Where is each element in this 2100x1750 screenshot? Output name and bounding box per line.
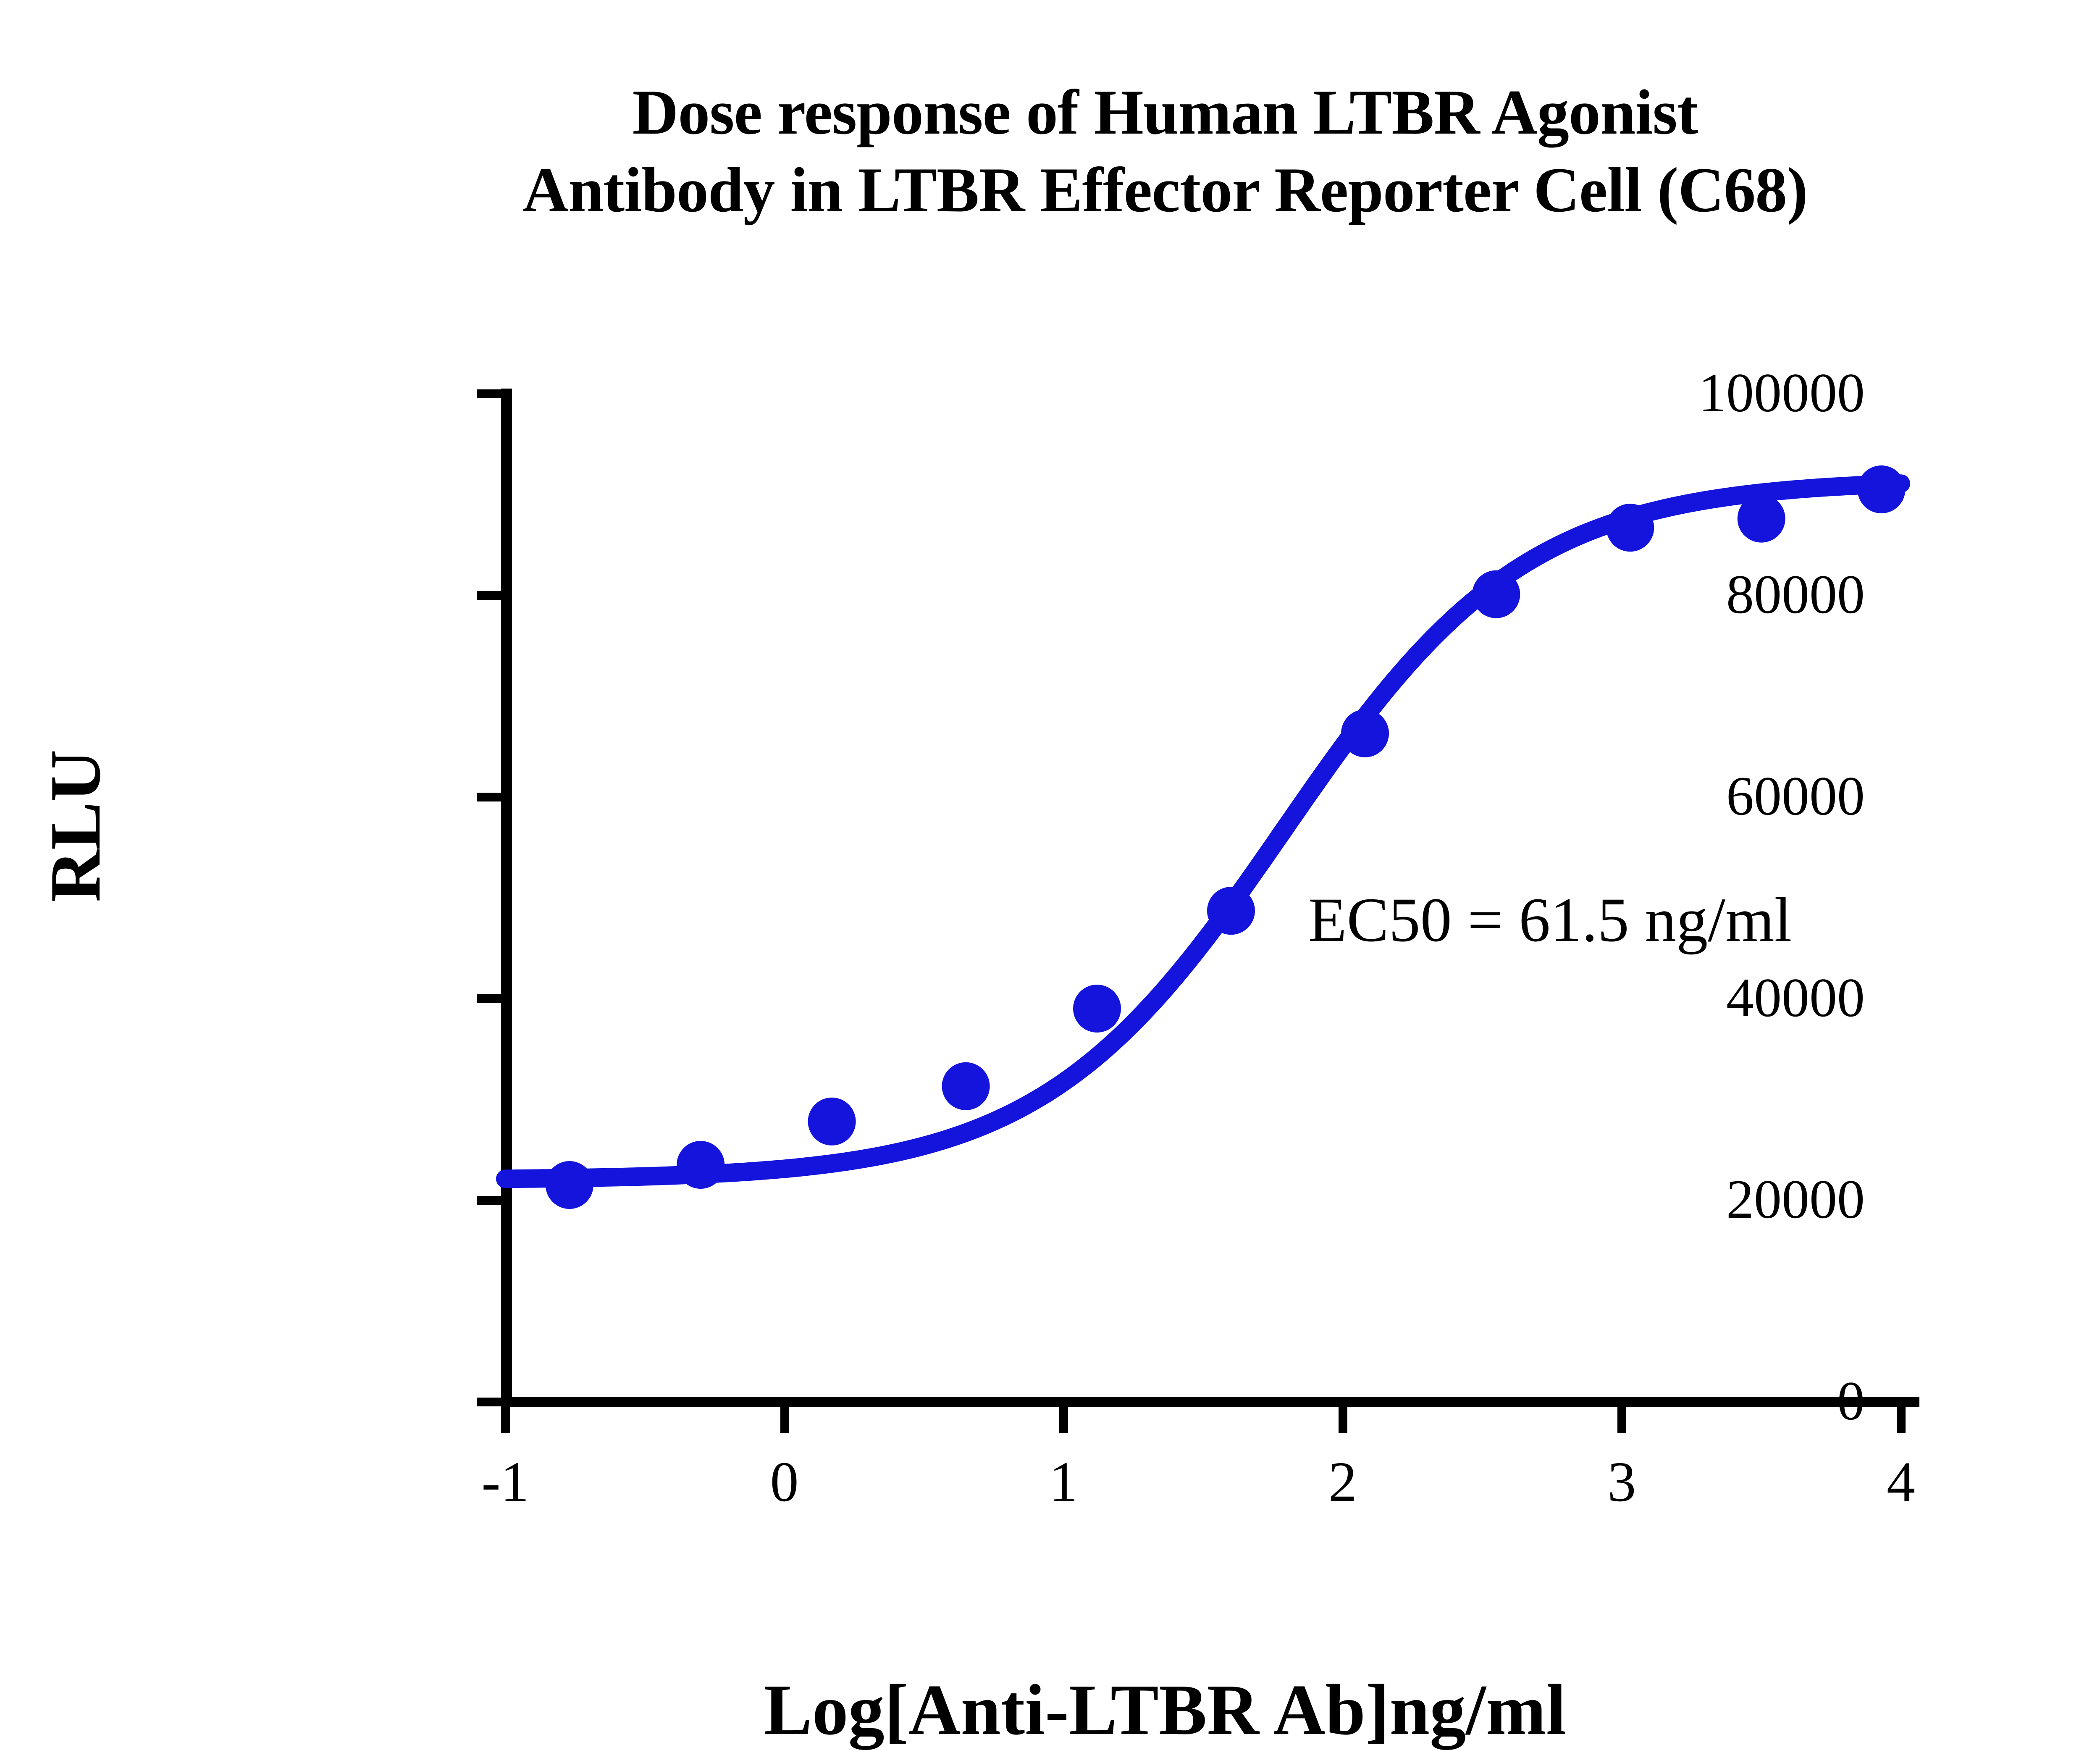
x-axis-label: Log[Anti-LTBR Ab]ng/ml: [0, 1674, 2100, 1746]
ec50-annotation: EC50 = 61.5 ng/ml: [1308, 888, 1792, 951]
data-point-marker: [1341, 709, 1389, 757]
data-series-layer: [0, 0, 2100, 1735]
data-point-marker: [1606, 504, 1654, 552]
fit-curve: [505, 483, 1901, 1179]
data-point-marker: [1472, 570, 1520, 618]
plot-area: 020000400006000080000100000 -101234 RLU …: [0, 0, 2100, 1735]
data-point-marker: [1738, 495, 1785, 543]
data-point-marker: [1073, 985, 1121, 1033]
data-point-marker: [808, 1098, 856, 1146]
y-axis-label: RLU: [39, 691, 112, 960]
data-point-marker: [546, 1161, 593, 1209]
chart-figure: Dose response of Human LTBR Agonist Anti…: [0, 0, 2100, 1735]
data-point-marker: [1207, 887, 1255, 935]
data-point-marker: [1858, 465, 1906, 513]
data-point-markers: [546, 465, 1906, 1209]
data-point-marker: [942, 1062, 990, 1110]
data-point-marker: [677, 1141, 724, 1189]
